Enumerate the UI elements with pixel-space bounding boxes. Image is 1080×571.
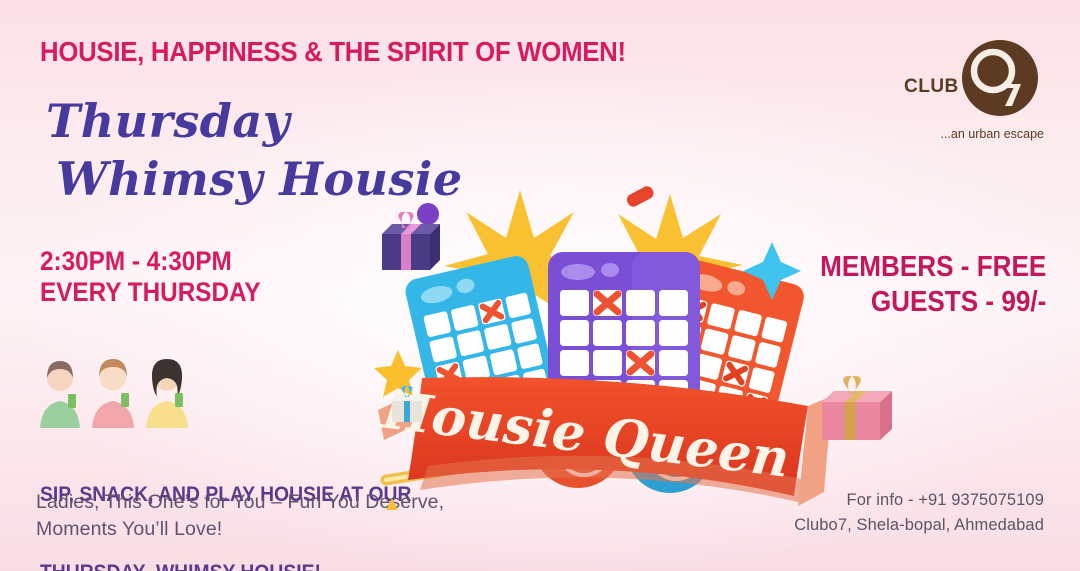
pricing-block: MEMBERS - FREE GUESTS - 99/- bbox=[820, 250, 1046, 320]
woman-yellow bbox=[146, 359, 188, 428]
price-members: MEMBERS - FREE bbox=[820, 250, 1046, 285]
purple-gift-box bbox=[370, 208, 442, 279]
event-time: 2:30PM - 4:30PM bbox=[40, 246, 261, 277]
woman-green bbox=[40, 361, 80, 428]
pink-gift-box bbox=[812, 372, 898, 457]
logo-tagline: ...an urban escape bbox=[904, 127, 1044, 141]
tagline-line-2: Moments You’ll Love! bbox=[36, 516, 444, 543]
yellow-star-small bbox=[372, 498, 412, 510]
women-illustration bbox=[34, 356, 194, 428]
cta-line-2: THURSDAY WHIMSY HOUSIE! bbox=[40, 560, 411, 571]
logo-word: CLUB bbox=[904, 76, 959, 98]
red-capsule bbox=[625, 184, 656, 209]
teal-gift-box bbox=[387, 386, 427, 429]
woman-pink bbox=[92, 359, 134, 428]
club-o7-logo: CLUB ...an urban escape bbox=[904, 36, 1044, 141]
poster-canvas: HOUSIE, HAPPINESS & THE SPIRIT OF WOMEN!… bbox=[0, 0, 1080, 571]
headline: HOUSIE, HAPPINESS & THE SPIRIT OF WOMEN! bbox=[40, 36, 626, 68]
price-guests: GUESTS - 99/- bbox=[820, 285, 1046, 320]
schedule-block: 2:30PM - 4:30PM EVERY THURSDAY bbox=[40, 246, 261, 308]
event-recurrence: EVERY THURSDAY bbox=[40, 277, 261, 308]
title-line-1: Thursday bbox=[46, 94, 290, 148]
contact-address: Clubo7, Shela-bopal, Ahmedabad bbox=[794, 513, 1044, 538]
logo-mark-icon bbox=[960, 38, 1040, 118]
